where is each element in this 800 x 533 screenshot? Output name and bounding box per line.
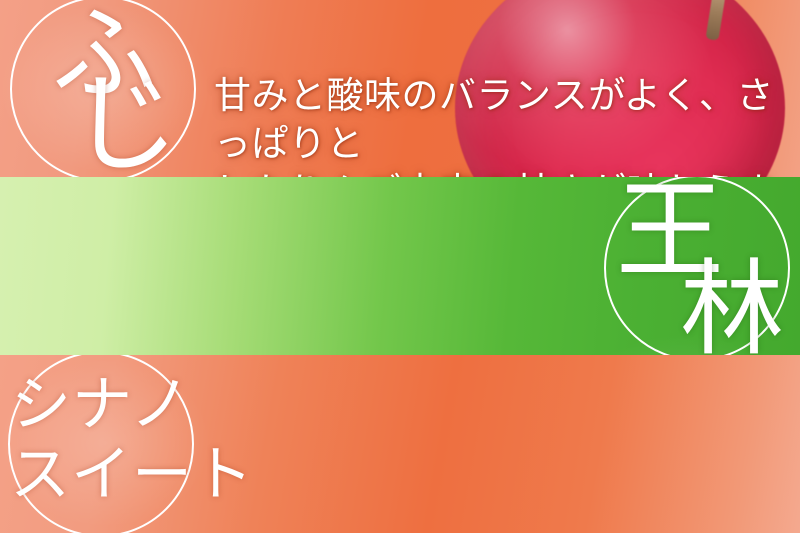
badge-glyph-line2: じ [12,72,194,177]
variety-panel-fuji: ふ じ 甘みと酸味のバランスがよく、さっぱりと したりんご本来の甘さが味わえます… [0,0,800,177]
badge-glyph-line2: 林 [606,259,788,355]
apple-variety-banner: ふ じ 甘みと酸味のバランスがよく、さっぱりと したりんご本来の甘さが味わえます… [0,0,800,533]
variety-description-fuji: 甘みと酸味のバランスがよく、さっぱりと したりんご本来の甘さが味わえます。 [214,73,784,177]
variety-badge-shinano-sweet: シナノ スイート [8,355,194,533]
badge-glyph-line2: スイート [10,445,220,505]
variety-badge-fuji: ふ じ [10,0,196,177]
variety-badge-orin: 王 林 [604,177,790,355]
variety-panel-shinano-sweet: シナノ スイート ほんのり甘く、酸味が少ないのが特徴 で、年代問わず人気です。 [0,355,800,533]
variety-panel-orin: 王 林 王林特有の風味があり、最も甘みが強 く芳醇でコクのある甘さが特徴です。 [0,177,800,355]
badge-glyph-line1: シナノ [10,375,192,435]
